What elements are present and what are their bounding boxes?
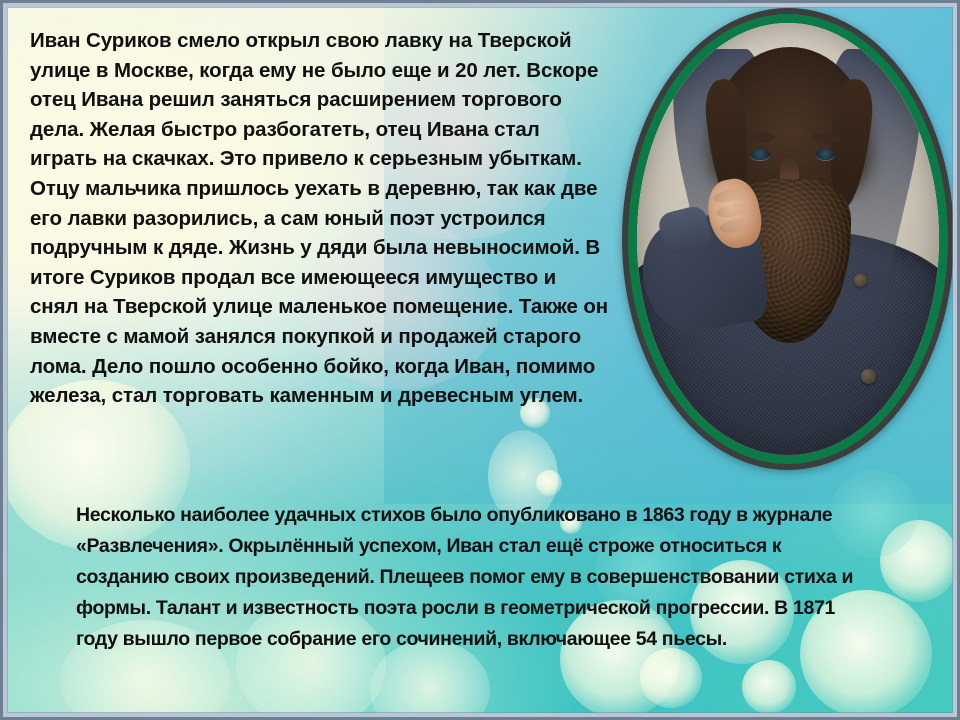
portrait-finger: [716, 200, 751, 219]
portrait-oval: [622, 8, 954, 470]
portrait-photo: [637, 23, 939, 455]
portrait-finger: [719, 215, 754, 234]
portrait-green-ring: [628, 14, 948, 464]
portrait-finger: [713, 186, 748, 205]
portrait-coat-button: [861, 369, 876, 384]
main-paragraph: Иван Суриков смело открыл свою лавку на …: [30, 26, 610, 411]
slide-canvas: Иван Суриков смело открыл свою лавку на …: [0, 0, 960, 720]
portrait-eye-left: [750, 149, 769, 160]
secondary-paragraph: Несколько наиболее удачных стихов было о…: [76, 500, 866, 655]
portrait-coat-button: [854, 274, 867, 287]
portrait-outer-frame: [622, 8, 954, 470]
